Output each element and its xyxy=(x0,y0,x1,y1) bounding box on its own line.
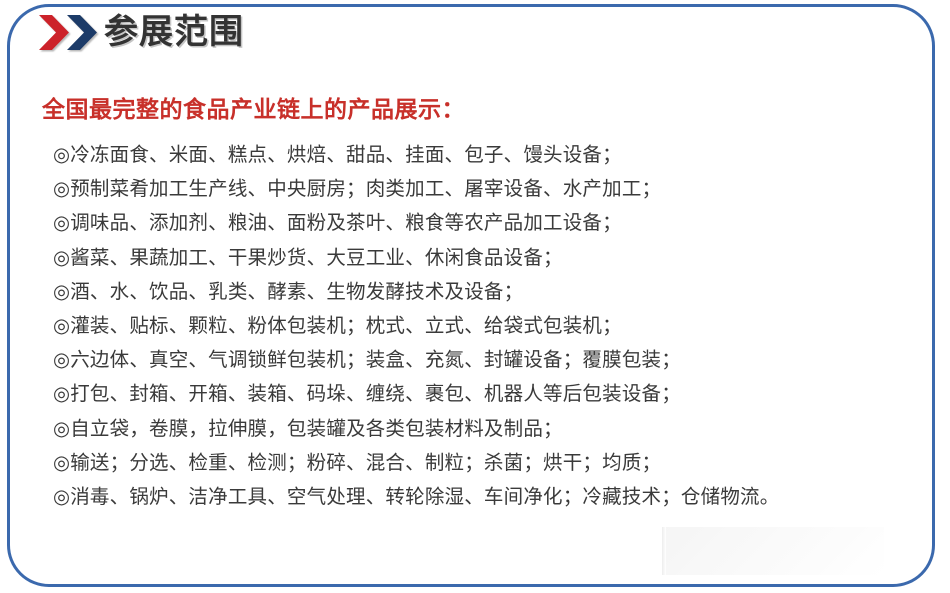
double-chevron-icon xyxy=(38,13,102,53)
background-watermark-block xyxy=(662,527,884,575)
list-item: ◎酒、水、饮品、乳类、酵素、生物发酵技术及设备； xyxy=(53,275,913,309)
list-item: ◎冷冻面食、米面、糕点、烘焙、甜品、挂面、包子、馒头设备； xyxy=(53,138,913,172)
scope-list: ◎冷冻面食、米面、糕点、烘焙、甜品、挂面、包子、馒头设备； ◎预制菜肴加工生产线… xyxy=(53,138,913,514)
list-item: ◎自立袋，卷膜，拉伸膜，包装罐及各类包装材料及制品； xyxy=(53,412,913,446)
list-item: ◎调味品、添加剂、粮油、面粉及茶叶、粮食等农产品加工设备； xyxy=(53,206,913,240)
list-item: ◎灌装、贴标、颗粒、粉体包装机；枕式、立式、给袋式包装机； xyxy=(53,309,913,343)
subtitle: 全国最完整的食品产业链上的产品展示： xyxy=(42,90,465,124)
page-title: 参展范围 xyxy=(104,8,244,56)
background-watermark-edge xyxy=(662,527,666,575)
list-item: ◎预制菜肴加工生产线、中央厨房；肉类加工、屠宰设备、水产加工； xyxy=(53,172,913,206)
list-item: ◎消毒、锅炉、洁净工具、空气处理、转轮除湿、车间净化；冷藏技术；仓储物流。 xyxy=(53,480,913,514)
list-item: ◎酱菜、果蔬加工、干果炒货、大豆工业、休闲食品设备； xyxy=(53,241,913,275)
list-item: ◎打包、封箱、开箱、装箱、码垛、缠绕、裹包、机器人等后包装设备； xyxy=(53,377,913,411)
header: 参展范围 xyxy=(0,0,950,68)
slide-page: 参展范围 全国最完整的食品产业链上的产品展示： ◎冷冻面食、米面、糕点、烘焙、甜… xyxy=(0,0,950,593)
list-item: ◎六边体、真空、气调锁鲜包装机；装盒、充氮、封罐设备；覆膜包装； xyxy=(53,343,913,377)
list-item: ◎输送；分选、检重、检测；粉碎、混合、制粒；杀菌；烘干；均质； xyxy=(53,446,913,480)
